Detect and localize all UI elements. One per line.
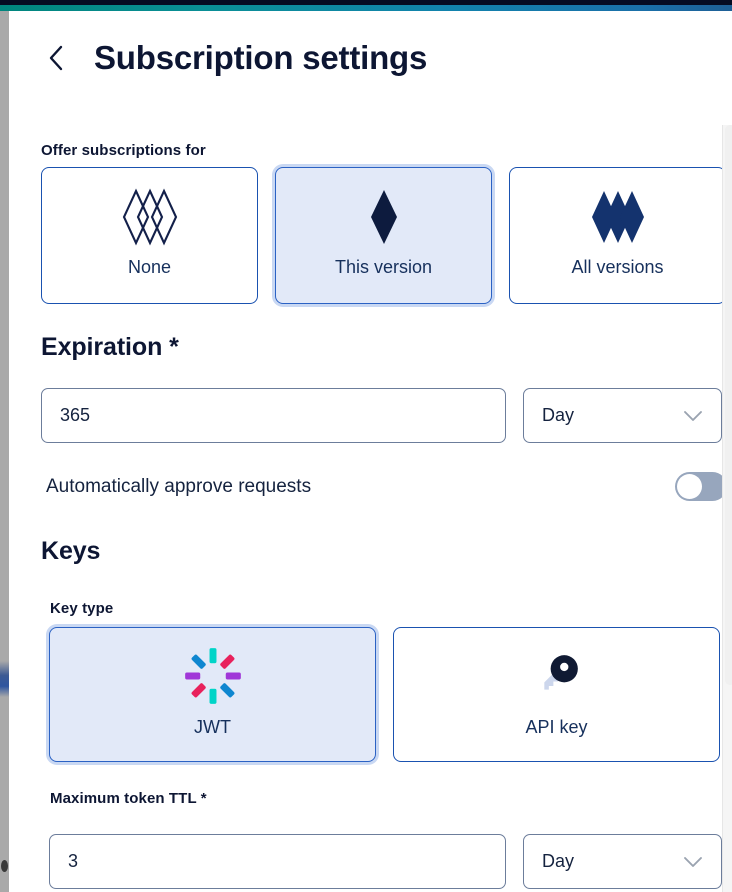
expiration-input-row: 365 Day [41,388,722,443]
jwt-pinwheel-icon [184,634,242,718]
key-type-card-jwt-label: JWT [194,718,231,736]
expiration-heading: Expiration * [41,333,179,362]
key-type-card-jwt[interactable]: JWT [49,627,376,762]
key-type-card-api-key[interactable]: API key [393,627,720,762]
three-diamonds-filled-icon [586,176,650,258]
keys-heading: Keys [41,537,100,566]
auto-approve-label: Automatically approve requests [46,476,311,498]
left-panel-active-marker [0,661,9,697]
key-type-label: Key type [50,600,113,617]
expiration-unit-select[interactable]: Day [523,388,722,443]
left-panel-sliver [0,11,9,892]
max-token-ttl-input-row: 3 Day [49,834,722,889]
settings-scroll-area[interactable]: Offer subscriptions for None [9,122,732,892]
left-panel-dot-icon [1,860,8,872]
option-card-none[interactable]: None [41,167,258,304]
option-card-none-label: None [128,258,171,276]
option-card-this-version-label: This version [335,258,432,276]
chevron-down-icon [683,856,703,868]
chevron-left-icon[interactable] [41,43,71,73]
option-card-all-versions[interactable]: All versions [509,167,726,304]
max-token-ttl-value-input[interactable]: 3 [49,834,506,889]
app-window: Subscription settings Offer subscription… [0,0,732,892]
scrollbar-thumb[interactable] [725,125,732,685]
auto-approve-toggle[interactable] [675,472,727,501]
max-token-ttl-unit-value: Day [542,851,574,872]
auto-approve-row: Automatically approve requests [46,472,727,501]
max-token-ttl-label: Maximum token TTL * [50,790,207,807]
chevron-down-icon [683,410,703,422]
three-diamonds-outline-icon [118,176,182,258]
offer-subscriptions-options: None This version [41,167,726,304]
expiration-unit-value: Day [542,405,574,426]
single-diamond-filled-icon [367,176,401,258]
page-title: Subscription settings [94,39,427,77]
key-icon [528,634,586,718]
key-type-options: JWT API key [49,627,720,762]
key-type-card-api-key-label: API key [525,718,587,736]
page-header: Subscription settings [41,28,427,88]
option-card-all-versions-label: All versions [571,258,663,276]
settings-page: Subscription settings Offer subscription… [9,11,732,892]
offer-subscriptions-label: Offer subscriptions for [41,142,206,159]
max-token-ttl-unit-select[interactable]: Day [523,834,722,889]
expiration-value-input[interactable]: 365 [41,388,506,443]
toggle-knob [677,474,702,499]
option-card-this-version[interactable]: This version [275,167,492,304]
vertical-scrollbar[interactable] [722,125,732,892]
